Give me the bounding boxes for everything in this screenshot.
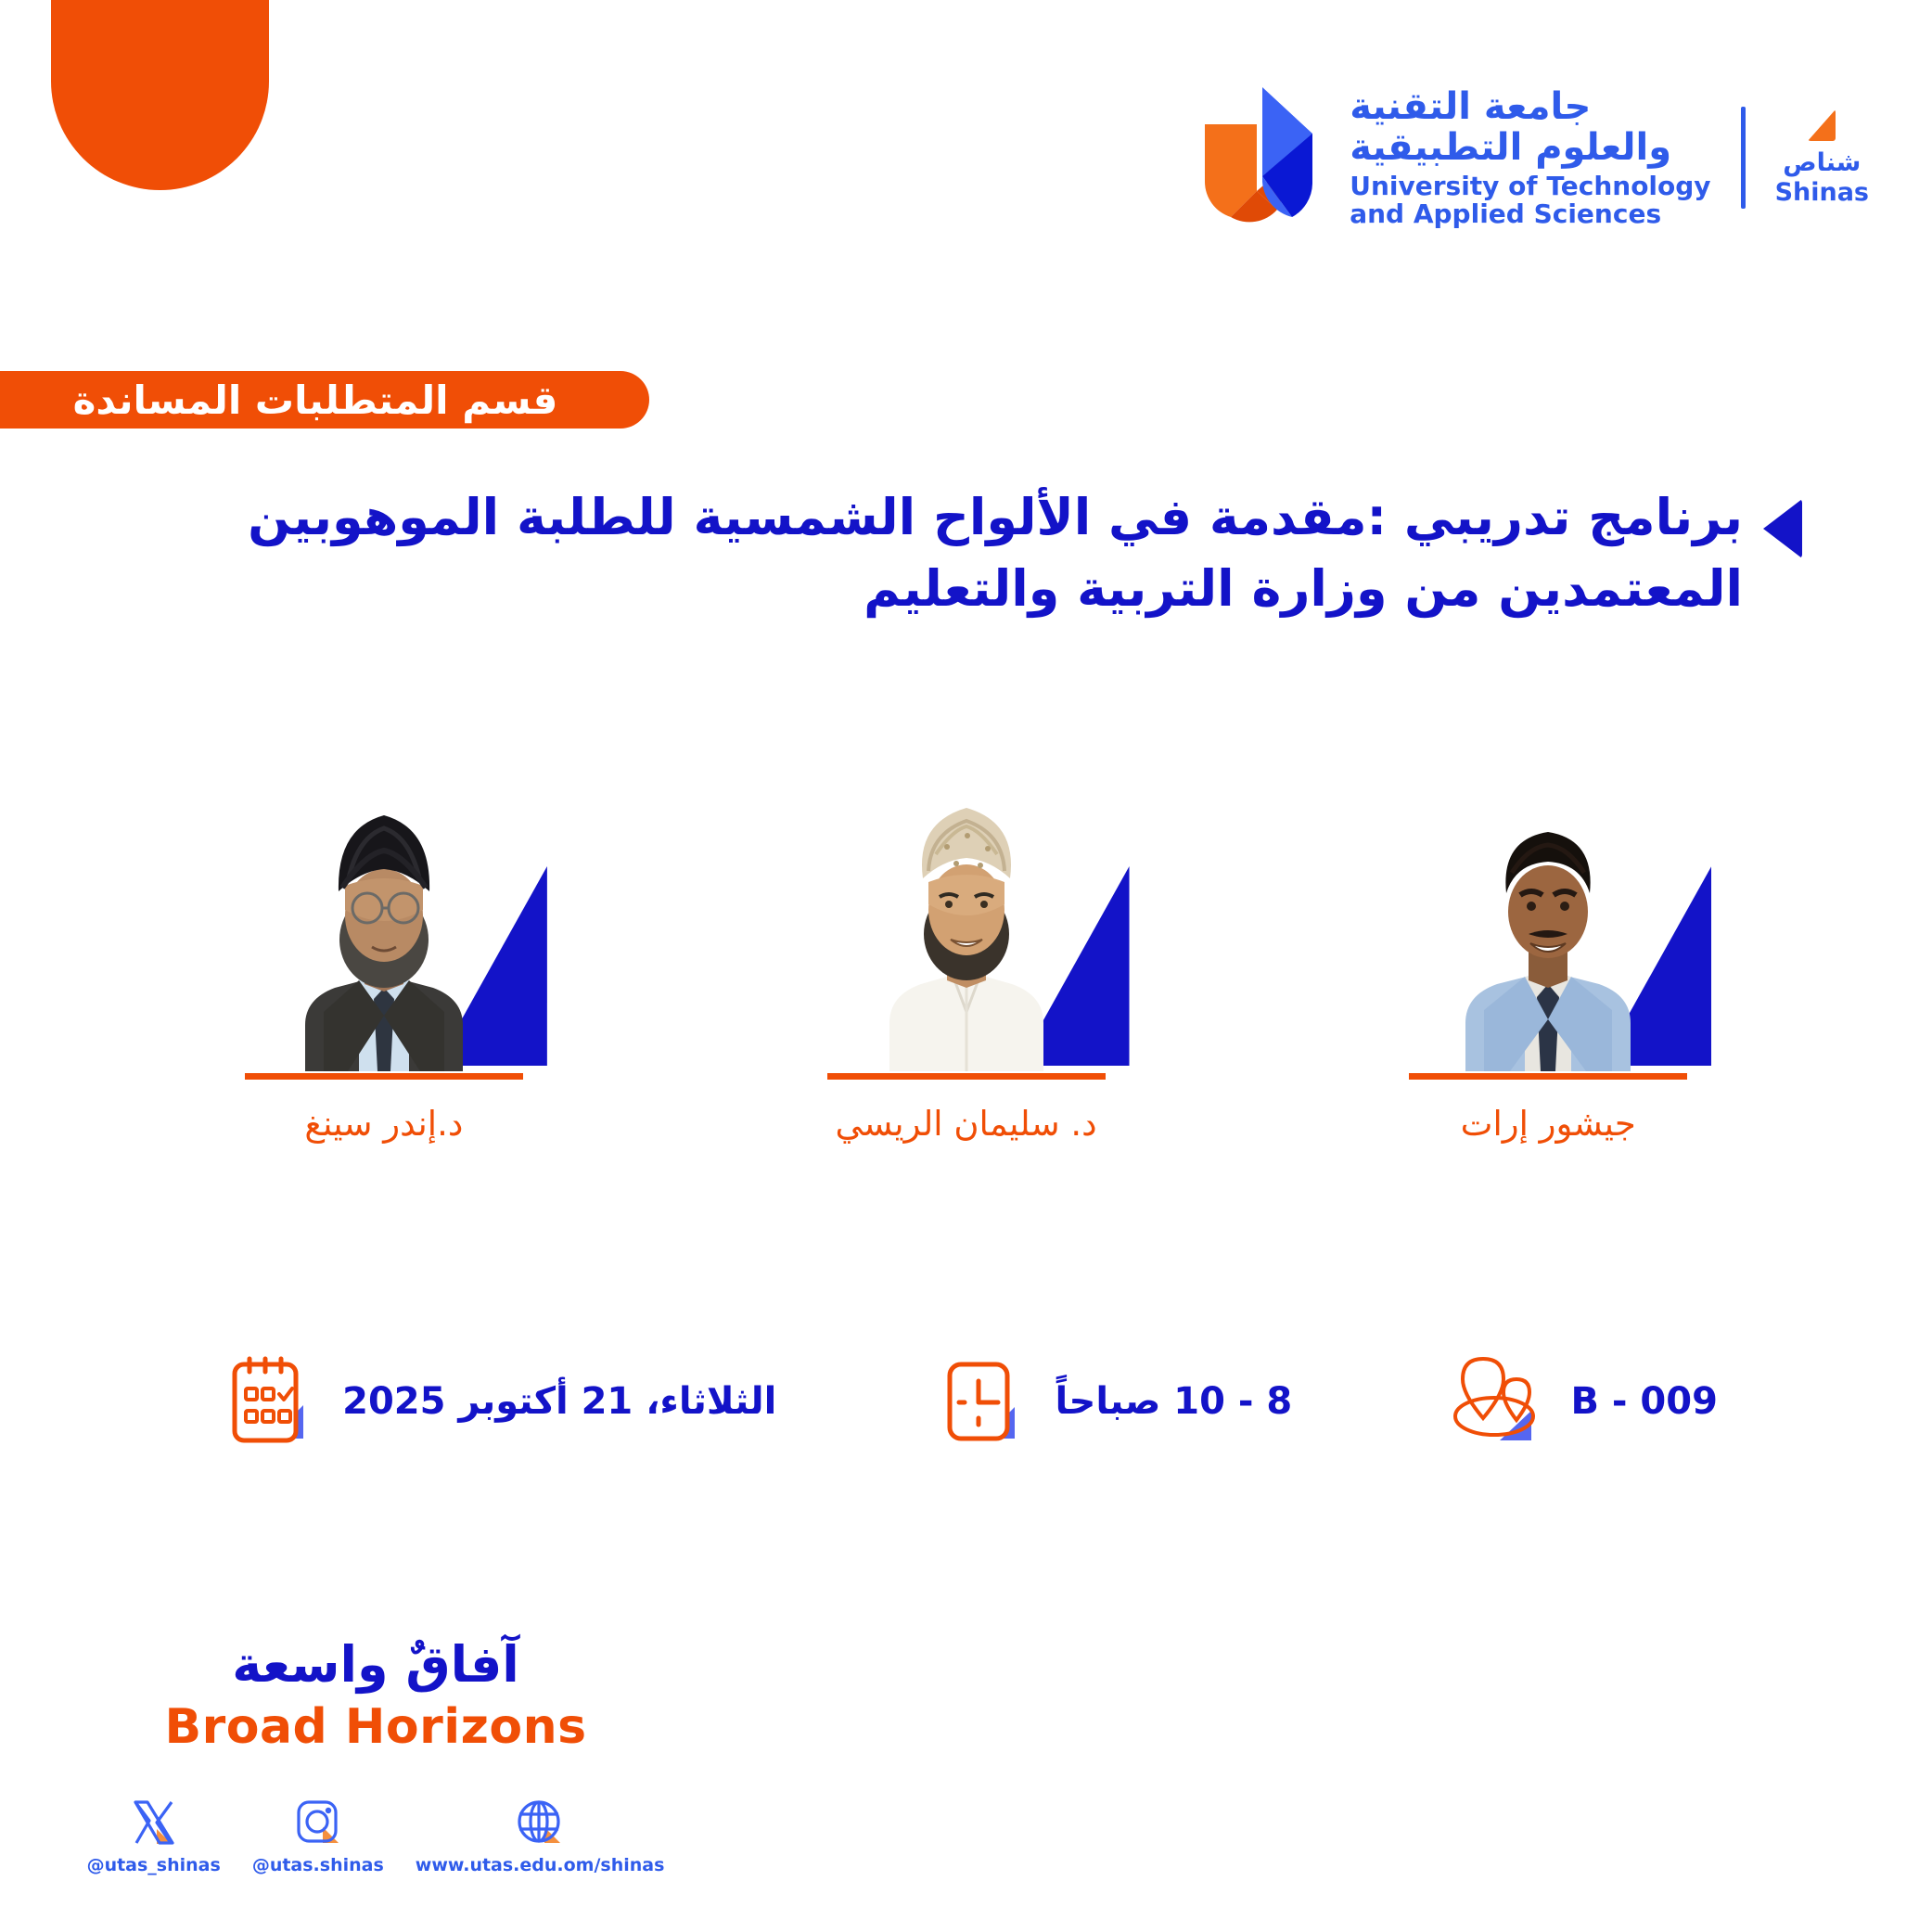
event-info-row: الثلاثاء، 21 أكتوبر 2025 8 - 10 صباحاً <box>0 1350 1932 1453</box>
orange-triangle-icon <box>1808 109 1836 141</box>
speaker-portrait <box>851 793 1082 1071</box>
speaker-portrait <box>268 793 500 1071</box>
info-item-venue: B - 009 <box>1442 1350 1717 1453</box>
speakers-row: د.إندر سينغ <box>0 793 1932 1144</box>
clock-icon <box>928 1350 1031 1453</box>
info-item-date: الثلاثاء، 21 أكتوبر 2025 <box>214 1350 776 1453</box>
left-triangle-marker-icon <box>1763 499 1802 558</box>
instagram-icon[interactable] <box>293 1798 343 1848</box>
social-handle-website[interactable]: www.utas.edu.om/shinas <box>416 1855 665 1875</box>
title-row: برنامج تدريبي :مقدمة في الألواح الشمسية … <box>139 482 1802 624</box>
speaker-photo-frame <box>781 793 1152 1071</box>
social-link-instagram[interactable]: @utas.shinas <box>252 1798 384 1875</box>
info-item-time: 8 - 10 صباحاً <box>928 1350 1293 1453</box>
social-link-x[interactable]: @utas_shinas <box>87 1798 221 1875</box>
calendar-icon <box>214 1350 318 1453</box>
speaker-underline <box>1409 1073 1687 1080</box>
logo-name-en-line2: and Applied Sciences <box>1350 201 1661 227</box>
speaker-underline <box>827 1073 1106 1080</box>
speaker-card: د.إندر سينغ <box>198 793 569 1144</box>
info-label-venue: B - 009 <box>1570 1380 1717 1423</box>
speaker-photo-frame <box>198 793 569 1071</box>
footer-brand-block: آفاقٌ واسعة Broad Horizons @utas_shinas <box>153 1637 598 1875</box>
department-label: قسم المتطلبات المساندة <box>73 377 558 423</box>
speaker-name: د. سليمان الريسي <box>835 1104 1096 1144</box>
speaker-underline <box>245 1073 523 1080</box>
info-label-time: 8 - 10 صباحاً <box>1056 1380 1293 1423</box>
logo-name-en-line1: University of Technology <box>1350 173 1710 199</box>
slogan-ar: آفاقٌ واسعة <box>232 1637 519 1692</box>
x-twitter-icon[interactable] <box>129 1798 179 1848</box>
info-label-date: الثلاثاء، 21 أكتوبر 2025 <box>342 1380 776 1423</box>
social-handle-instagram[interactable]: @utas.shinas <box>252 1855 384 1875</box>
social-handle-x[interactable]: @utas_shinas <box>87 1855 221 1875</box>
branch-name-ar: شناص <box>1783 150 1861 176</box>
speaker-name: جيشور إرات <box>1461 1104 1636 1144</box>
logo-divider <box>1741 107 1746 209</box>
globe-icon[interactable] <box>515 1798 565 1848</box>
branch-name-en: Shinas <box>1775 180 1869 206</box>
page-title: برنامج تدريبي :مقدمة في الألواح الشمسية … <box>139 482 1743 624</box>
slogan-en: Broad Horizons <box>164 1699 586 1755</box>
social-links: @utas_shinas @utas.shinas <box>87 1798 665 1875</box>
speaker-name: د.إندر سينغ <box>304 1104 463 1144</box>
logo-name-ar-line1: جامعة التقنية <box>1350 88 1591 125</box>
speaker-portrait <box>1432 793 1664 1071</box>
department-ribbon: قسم المتطلبات المساندة <box>0 371 649 429</box>
speaker-card: د. سليمان الريسي <box>781 793 1152 1144</box>
utas-logo-lockup: جامعة التقنية والعلوم التطبيقية Universi… <box>1203 80 1869 236</box>
speaker-photo-frame <box>1363 793 1734 1071</box>
map-pins-icon <box>1442 1350 1546 1453</box>
logo-text-block: جامعة التقنية والعلوم التطبيقية Universi… <box>1350 88 1710 227</box>
utas-logo-mark-icon <box>1203 80 1325 236</box>
branch-block: شناص Shinas <box>1775 109 1869 206</box>
social-link-website[interactable]: www.utas.edu.om/shinas <box>416 1798 665 1875</box>
corner-blob-decoration <box>51 0 269 190</box>
event-poster: جامعة التقنية والعلوم التطبيقية Universi… <box>0 0 1932 1932</box>
speaker-card: جيشور إرات <box>1363 793 1734 1144</box>
logo-name-ar-line2: والعلوم التطبيقية <box>1350 129 1671 166</box>
